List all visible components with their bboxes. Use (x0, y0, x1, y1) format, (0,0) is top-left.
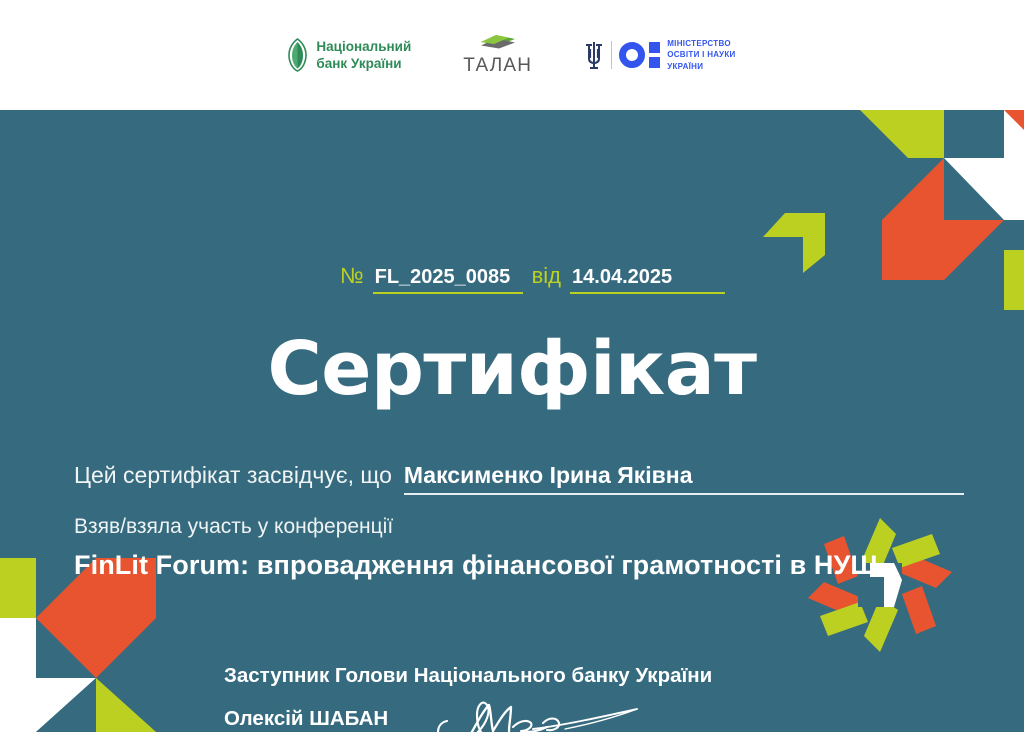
logo-ministry-of-education: МІНІСТЕРСТВО ОСВІТИ І НАУКИ УКРАЇНИ (584, 38, 735, 73)
ministry-emblem-icon (619, 42, 660, 68)
ministry-circle-shape (619, 42, 645, 68)
talan-wordmark: ТАЛАН (463, 55, 532, 77)
certificate-number-value: FL_2025_0085 (373, 266, 523, 294)
awardee-name: Максименко Ірина Яківна (404, 462, 964, 495)
signatory-role: Заступник Голови Національного банку Укр… (224, 664, 712, 688)
talan-chevron-icon (477, 33, 519, 53)
decoration-pinwheel-star (800, 510, 960, 660)
participation-label: Взяв/взяла участь у конференції (74, 515, 393, 539)
logo-divider (611, 41, 612, 69)
ministry-wordmark-line3: УКРАЇНИ (667, 61, 735, 73)
nbu-wordmark-line2: банк України (316, 55, 411, 72)
nbu-wordmark-line1: Національний (316, 38, 411, 55)
event-title: FinLit Forum: впровадження фінансової гр… (74, 550, 878, 581)
decoration-green-arrow-flag (755, 205, 835, 290)
ministry-wordmark-line2: ОСВІТИ І НАУКИ (667, 49, 735, 61)
ministry-squares-shape (649, 42, 660, 68)
signature-image (425, 693, 657, 732)
nbu-shield-icon (288, 38, 307, 72)
logo-header-band: Національний банк України ТАЛАН (0, 0, 1024, 110)
certificate-body: № FL_2025_0085 від 14.04.2025 Сертифікат… (0, 110, 1024, 732)
logo-talan: ТАЛАН (463, 33, 532, 77)
ministry-square-bottom (649, 57, 660, 68)
nbu-wordmark: Національний банк України (316, 38, 411, 73)
awardee-row: Цей сертифікат засвідчує, що Максименко … (74, 462, 964, 495)
signatory-name: Олексій ШАБАН (224, 707, 388, 731)
certificate-canvas: Національний банк України ТАЛАН (0, 0, 1024, 732)
number-label: № (340, 263, 364, 289)
certificate-number-line: № FL_2025_0085 від 14.04.2025 (340, 263, 725, 294)
logo-national-bank-of-ukraine: Національний банк України (288, 38, 411, 73)
awardee-intro-text: Цей сертифікат засвідчує, що (74, 462, 392, 489)
ministry-square-top (649, 42, 660, 53)
certificate-date-value: 14.04.2025 (570, 266, 725, 294)
page-title: Сертифікат (0, 326, 1024, 412)
ukraine-trident-icon (584, 40, 604, 70)
ministry-wordmark-line1: МІНІСТЕРСТВО (667, 38, 735, 50)
ministry-wordmark: МІНІСТЕРСТВО ОСВІТИ І НАУКИ УКРАЇНИ (667, 38, 735, 73)
date-label: від (532, 263, 561, 289)
decoration-top-right-geometric (840, 110, 1024, 340)
